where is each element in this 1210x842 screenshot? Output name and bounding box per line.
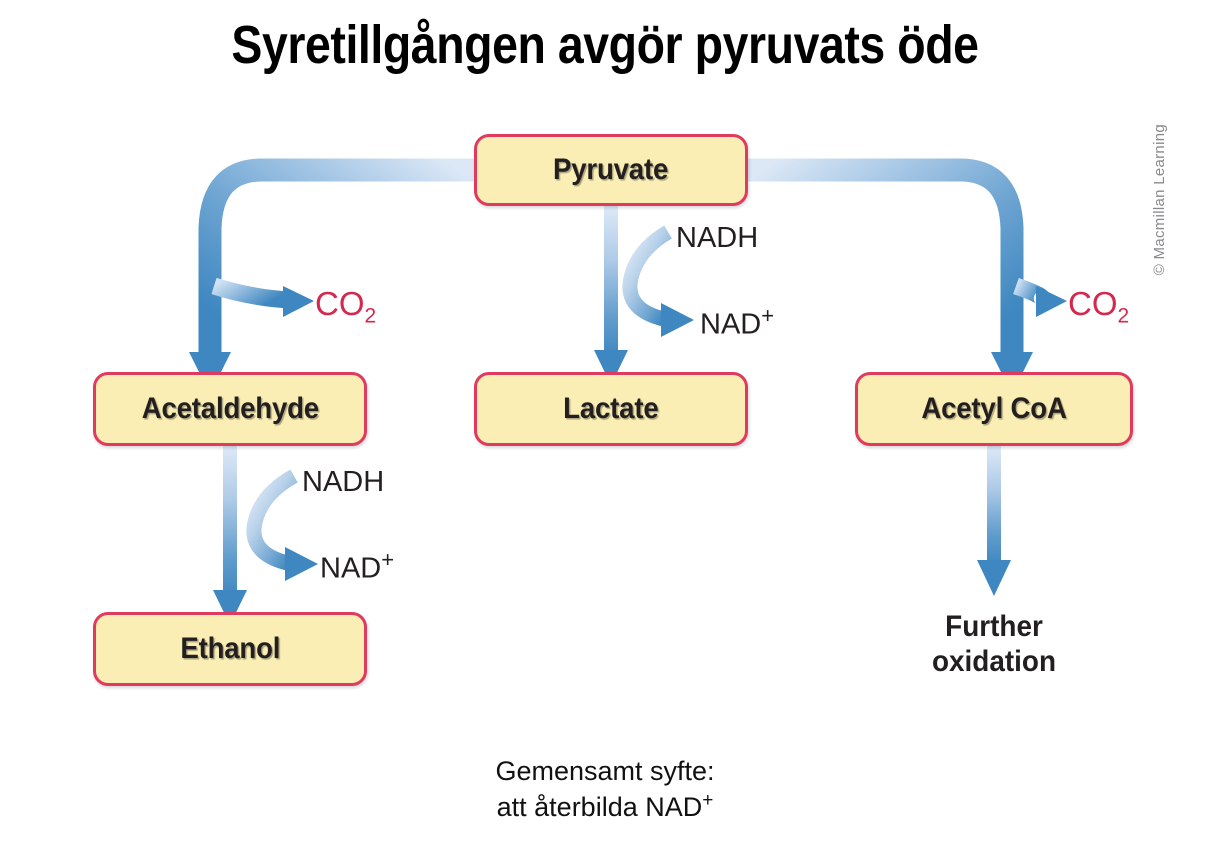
label-nad-middle-text: NAD (700, 309, 761, 341)
label-co2-left-subscript: 2 (365, 305, 377, 328)
diagram-canvas: Syretillgången avgör pyruvats öde (0, 0, 1210, 842)
caption-line2-superscript: + (702, 790, 713, 811)
arrow-acetylcoa-to-further-oxidation (977, 446, 1011, 596)
arrow-co2-right (1016, 286, 1067, 317)
node-pyruvate-label: Pyruvate (553, 153, 668, 187)
label-nad-left-text: NAD (320, 553, 381, 585)
caption: Gemensamt syfte: att återbilda NAD+ (0, 754, 1210, 824)
label-co2-left-text: CO (315, 285, 365, 322)
node-ethanol[interactable]: Ethanol (93, 612, 367, 686)
arrow-pyruvate-to-acetylcoa (744, 170, 1033, 394)
node-ethanol-label: Ethanol (180, 632, 280, 666)
label-nadh-left: NADH (302, 466, 384, 499)
label-co2-left: CO2 (315, 285, 376, 329)
caption-line1: Gemensamt syfte: (0, 754, 1210, 789)
copyright-credit: © Macmillan Learning (1151, 124, 1168, 275)
node-pyruvate[interactable]: Pyruvate (474, 134, 748, 206)
label-nadh-middle: NADH (676, 222, 758, 255)
node-acetyl-coa[interactable]: Acetyl CoA (855, 372, 1133, 446)
label-co2-right-text: CO (1068, 285, 1118, 322)
label-nad-middle-superscript: + (761, 303, 774, 328)
node-acetaldehyde-label: Acetaldehyde (141, 392, 318, 426)
label-co2-right-subscript: 2 (1118, 305, 1130, 328)
node-acetyl-coa-label: Acetyl CoA (921, 392, 1066, 426)
label-co2-right: CO2 (1068, 285, 1129, 329)
arrow-pyruvate-to-acetaldehyde (189, 170, 478, 394)
caption-line2-text: att återbilda NAD (497, 792, 703, 822)
label-further-oxidation-line2: oxidation (865, 645, 1124, 680)
arrow-acetaldehyde-to-ethanol (213, 446, 247, 625)
node-lactate[interactable]: Lactate (474, 372, 748, 446)
arrow-pyruvate-to-lactate (594, 206, 628, 385)
label-nad-middle: NAD+ (700, 303, 774, 342)
label-further-oxidation-line1: Further (865, 610, 1124, 645)
node-lactate-label: Lactate (563, 392, 658, 426)
label-nad-left: NAD+ (320, 547, 394, 586)
caption-line2: att återbilda NAD+ (0, 789, 1210, 825)
arrow-co2-left (214, 286, 314, 317)
node-acetaldehyde[interactable]: Acetaldehyde (93, 372, 367, 446)
label-nad-left-superscript: + (381, 547, 394, 572)
label-further-oxidation: Further oxidation (865, 610, 1124, 680)
